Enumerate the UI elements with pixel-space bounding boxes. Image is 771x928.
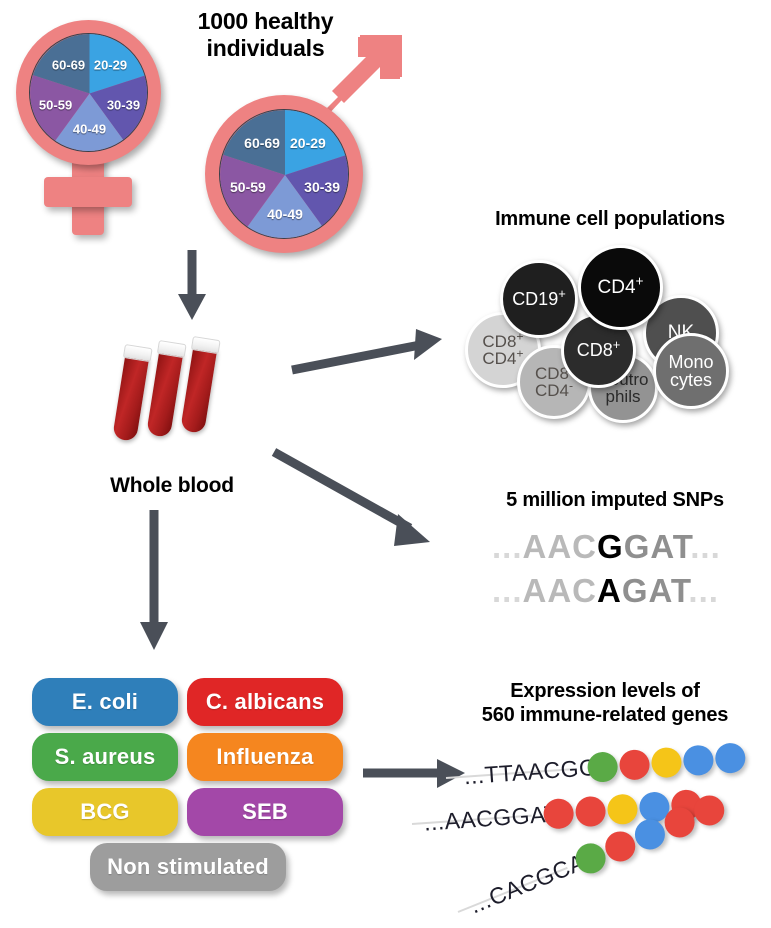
genes-heading-line1: Expression levels of — [450, 680, 760, 704]
stimulus-label: SEB — [242, 799, 288, 825]
pie-label-50-59: 50-59 — [39, 97, 72, 112]
snp-prefix-bases: AAC — [523, 528, 598, 565]
nucleotide-bead-yellow — [606, 793, 638, 825]
male-age-pie-chart: 20-2930-3940-4950-5960-69 — [219, 109, 349, 239]
nucleotide-bead-red — [690, 791, 729, 830]
pie-label-50-59: 50-59 — [230, 179, 266, 195]
snp-sequences: ...AACGGAT......AACAGAT... — [492, 528, 742, 613]
immune-cell-label: CD8+CD4+ — [482, 333, 523, 368]
stimuli-panel: E. coliC. albicansS. aureusInfluenzaBCGS… — [32, 678, 342, 893]
immune-cell-label: CD8+ — [577, 341, 621, 359]
stimulus-box: E. coli — [32, 678, 178, 726]
blood-tube-body — [112, 353, 149, 442]
arrow-blood-to-snps — [272, 450, 447, 555]
stimulus-box: C. albicans — [187, 678, 343, 726]
immune-cell-cd4: CD4+ — [578, 245, 663, 330]
pie-label-30-39: 30-39 — [304, 179, 340, 195]
whole-blood-tubes — [110, 335, 240, 445]
gene-strands: ...TTAACGG...AACGGAT...CACGCAA — [440, 735, 771, 920]
whole-blood-label: Whole blood — [82, 474, 262, 499]
arrow-blood-to-cells — [290, 325, 450, 380]
snp-prefix-bases: AAC — [523, 572, 598, 609]
snp-prefix-ellipsis: ... — [492, 572, 523, 609]
pie-label-40-49: 40-49 — [73, 122, 106, 137]
pie-label-60-69: 60-69 — [244, 135, 280, 151]
nucleotide-bead-red — [619, 749, 651, 781]
nucleotide-bead-blue — [682, 744, 714, 776]
female-gender-symbol: 20-2930-3940-4950-5960-69 — [8, 10, 188, 240]
immune-cell-label: Monocytes — [668, 353, 713, 390]
immune-cell-cluster: CD19+CD4+NKCD8+CD4+CD8+CD8-CD4-Neutrophi… — [465, 245, 755, 420]
genes-heading: Expression levels of 560 immune-related … — [450, 680, 760, 727]
immune-cells-heading: Immune cell populations — [455, 208, 765, 232]
blood-tube-body — [146, 349, 183, 438]
pie-label-60-69: 60-69 — [52, 57, 85, 72]
snps-heading: 5 million imputed SNPs — [470, 489, 760, 513]
snp-suffix-bases: GAT — [624, 528, 691, 565]
snp-suffix-ellipsis: ... — [688, 572, 719, 609]
blood-tube-body — [180, 345, 217, 434]
snp-suffix-ellipsis: ... — [690, 528, 721, 565]
pie-label-30-39: 30-39 — [107, 97, 140, 112]
stimulus-label: E. coli — [72, 689, 138, 715]
snp-suffix-bases: GAT — [622, 572, 689, 609]
stimulus-label: S. aureus — [55, 744, 156, 770]
snp-variant-base: G — [597, 528, 624, 565]
stimulus-label: Influenza — [216, 744, 313, 770]
immune-cell-label: CD4+ — [598, 278, 644, 297]
pie-label-40-49: 40-49 — [267, 206, 303, 222]
pie-label-20-29: 20-29 — [290, 135, 326, 151]
pie-label-20-29: 20-29 — [94, 57, 127, 72]
immune-cell-label: CD19+ — [512, 290, 566, 308]
immune-cell-monocytes: Monocytes — [653, 333, 729, 409]
female-age-pie-chart: 20-2930-3940-4950-5960-69 — [29, 33, 148, 152]
stimulus-box: SEB — [187, 788, 343, 836]
strand-sequence-label: ...AACGGAT — [423, 800, 559, 836]
snp-sequence-row: ...AACAGAT... — [492, 572, 719, 610]
arrow-cohort-to-blood — [178, 250, 218, 325]
stimulus-box: BCG — [32, 788, 178, 836]
nucleotide-bead-blue — [714, 742, 746, 774]
stimulus-label: C. albicans — [206, 689, 324, 715]
strand-sequence-label: ...TTAACGG — [463, 754, 598, 790]
arrow-blood-to-stimuli — [140, 510, 180, 655]
stimulus-label: BCG — [80, 799, 130, 825]
female-symbol-crossbar — [44, 177, 132, 207]
stimulus-label: Non stimulated — [107, 854, 269, 880]
stimulus-box: Influenza — [187, 733, 343, 781]
snp-variant-base: A — [597, 572, 622, 609]
stimulus-box: Non stimulated — [90, 843, 286, 891]
snp-prefix-ellipsis: ... — [492, 528, 523, 565]
nucleotide-bead-red — [575, 796, 607, 828]
immune-cell-cd19: CD19+ — [500, 260, 578, 338]
nucleotide-bead-yellow — [650, 747, 682, 779]
genes-heading-line2: 560 immune-related genes — [450, 704, 760, 728]
figure-canvas: 1000 healthy individuals 20-2930-3940-49… — [0, 0, 771, 922]
male-gender-symbol: 20-2930-3940-4950-5960-69 — [195, 85, 425, 265]
stimulus-box: S. aureus — [32, 733, 178, 781]
snp-sequence-row: ...AACGGAT... — [492, 528, 721, 566]
